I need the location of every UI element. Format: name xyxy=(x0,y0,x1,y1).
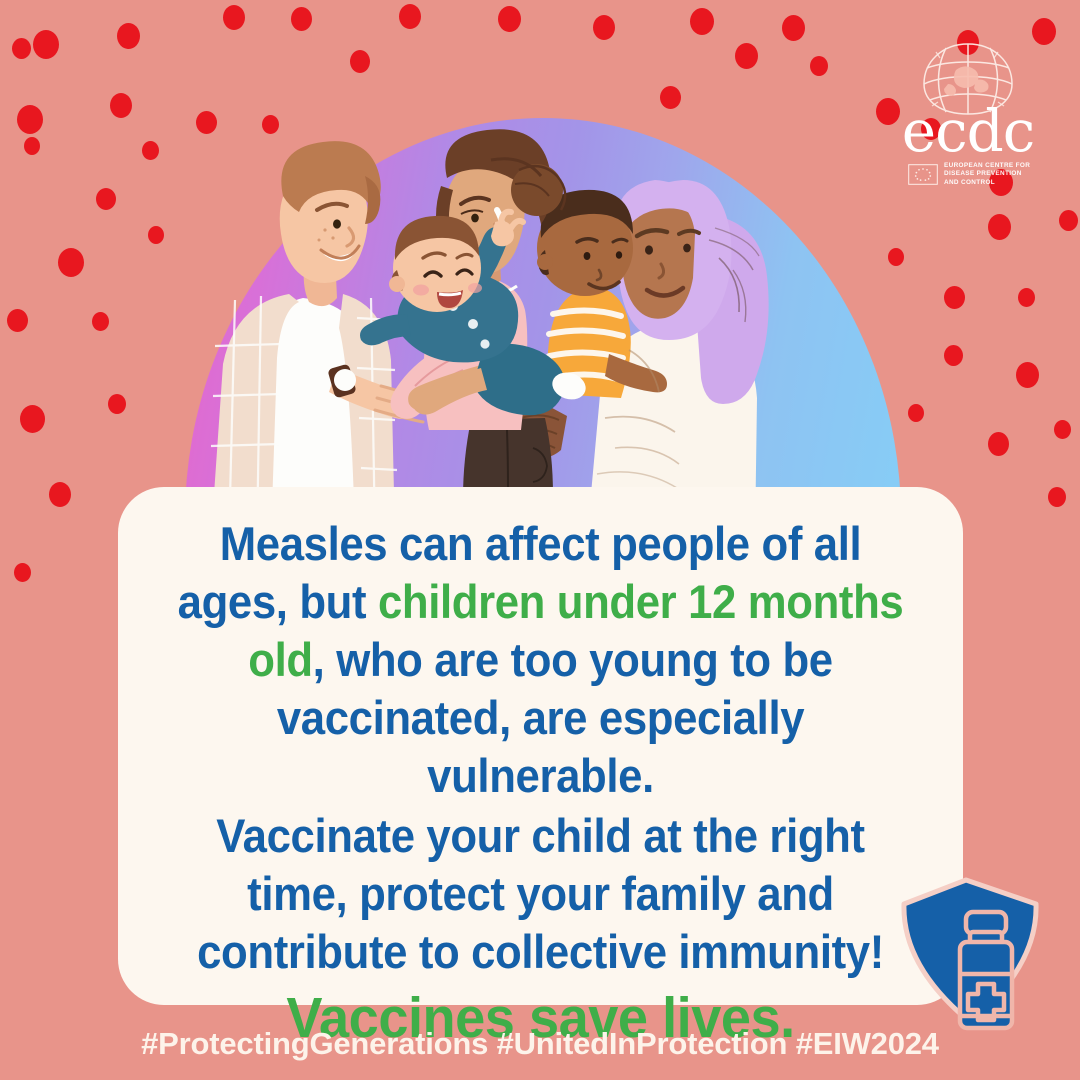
dot xyxy=(908,404,924,422)
dot xyxy=(1018,288,1035,307)
dot xyxy=(12,38,31,59)
dot xyxy=(782,15,805,41)
poster-canvas: ecdc EUROPEAN CENTRE FOR DISEASE PREVENT… xyxy=(0,0,1080,1080)
dot xyxy=(20,405,45,433)
ecdc-subtitle-line-1: EUROPEAN CENTRE FOR xyxy=(944,162,1030,171)
dot xyxy=(49,482,71,507)
dot xyxy=(58,248,84,277)
message-paragraph-1: Measles can affect people of all ages, b… xyxy=(175,515,905,805)
dot xyxy=(142,141,159,160)
dot xyxy=(498,6,521,32)
dot xyxy=(810,56,828,76)
dot xyxy=(944,345,963,366)
dot xyxy=(33,30,59,59)
ecdc-subtitle-block: EUROPEAN CENTRE FOR DISEASE PREVENTION A… xyxy=(894,162,1042,188)
ecdc-subtitle-line-2: DISEASE PREVENTION xyxy=(944,170,1030,179)
dot xyxy=(14,563,31,582)
dot xyxy=(223,5,245,30)
dot xyxy=(690,8,714,35)
vaccine-vial-icon xyxy=(960,912,1012,1028)
dot xyxy=(988,432,1009,456)
message-paragraph-2: Vaccinate your child at the right time, … xyxy=(175,807,905,981)
ecdc-subtitle: EUROPEAN CENTRE FOR DISEASE PREVENTION A… xyxy=(944,162,1030,188)
paragraph-1-after: , who are too young to be vaccinated, ar… xyxy=(277,633,833,802)
dot xyxy=(988,214,1011,240)
shield-vaccine-badge xyxy=(888,870,1058,1040)
dot xyxy=(1059,210,1078,231)
dot xyxy=(291,7,312,31)
ecdc-wordmark: ecdc xyxy=(894,108,1042,156)
dot xyxy=(7,309,28,332)
dot xyxy=(110,93,132,118)
dot xyxy=(735,43,758,69)
dot xyxy=(108,394,126,414)
dot xyxy=(92,312,109,331)
dot xyxy=(944,286,965,309)
dot xyxy=(1016,362,1039,388)
message-card: Measles can affect people of all ages, b… xyxy=(118,487,963,1005)
dot xyxy=(350,50,370,73)
dot xyxy=(593,15,615,40)
ecdc-subtitle-line-3: AND CONTROL xyxy=(944,179,1030,188)
dot xyxy=(24,137,40,155)
ecdc-logo: ecdc EUROPEAN CENTRE FOR DISEASE PREVENT… xyxy=(894,40,1042,188)
dot xyxy=(660,86,681,109)
dot xyxy=(117,23,140,49)
dot xyxy=(17,105,43,134)
eu-stars-icon xyxy=(908,164,938,185)
dot xyxy=(96,188,116,210)
families-illustration xyxy=(185,118,901,538)
dot xyxy=(1054,420,1071,439)
dot xyxy=(148,226,164,244)
dot xyxy=(1048,487,1066,507)
dot xyxy=(399,4,421,29)
